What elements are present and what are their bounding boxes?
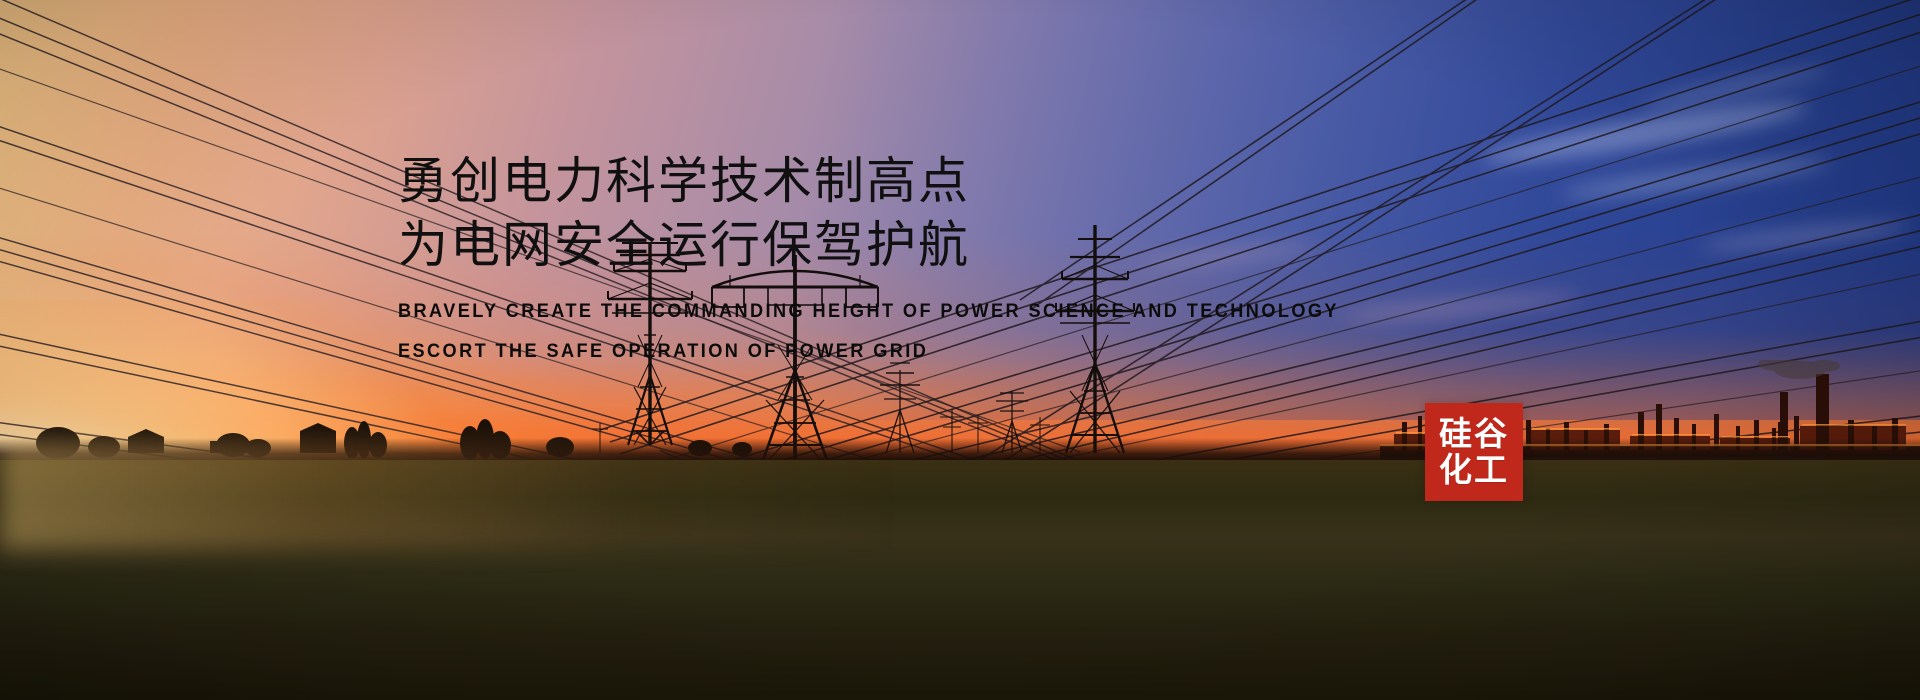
company-logo-stamp[interactable]: 硅谷 化工 (1425, 403, 1523, 501)
logo-text-line2: 化工 (1439, 452, 1509, 488)
subheadline-english-line1: BRAVELY CREATE THE COMMANDING HEIGHT OF … (398, 300, 1421, 323)
subheadline-english-line2: ESCORT THE SAFE OPERATION OF POWER GRID (398, 340, 1421, 363)
headline-chinese-line2: 为电网安全运行保驾护航 (398, 216, 1498, 274)
headline-chinese-line1: 勇创电力科学技术制高点 (398, 152, 1498, 210)
banner-text-block: 勇创电力科学技术制高点 为电网安全运行保驾护航 BRAVELY CREATE T… (398, 152, 1498, 363)
logo-text-line1: 硅谷 (1439, 416, 1509, 452)
foreground-field (0, 460, 1920, 700)
hero-banner: 勇创电力科学技术制高点 为电网安全运行保驾护航 BRAVELY CREATE T… (0, 0, 1920, 700)
